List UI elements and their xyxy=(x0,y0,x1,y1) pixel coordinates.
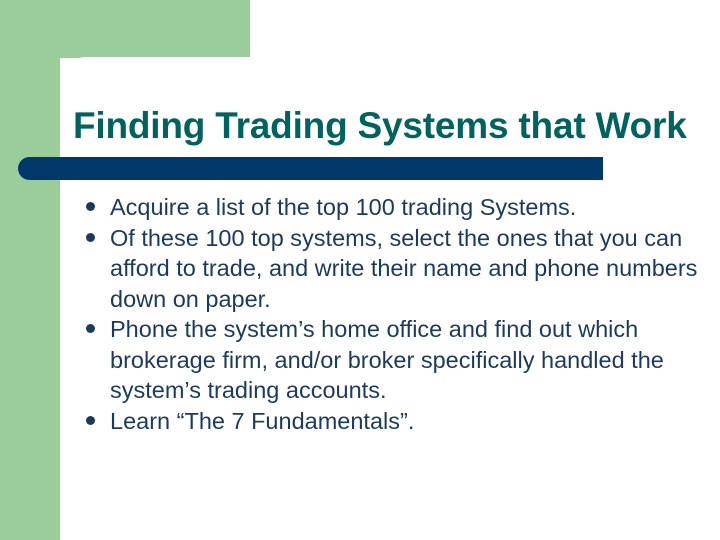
bullet-dot-icon xyxy=(86,324,95,333)
list-item: Of these 100 top systems, select the one… xyxy=(86,223,698,315)
slide-title: Finding Trading Systems that Work xyxy=(73,104,703,148)
list-item-text: Phone the system’s home office and find … xyxy=(110,314,698,406)
list-item-text: Learn “The 7 Fundamentals”. xyxy=(110,406,698,437)
title-accent-bar xyxy=(18,157,603,180)
green-left-strip xyxy=(0,0,60,540)
bullet-dot-icon xyxy=(86,233,95,242)
slide-bullet-list: Acquire a list of the top 100 trading Sy… xyxy=(86,192,698,436)
list-item: Acquire a list of the top 100 trading Sy… xyxy=(86,192,698,223)
list-item: Learn “The 7 Fundamentals”. xyxy=(86,406,698,437)
presentation-slide: Finding Trading Systems that Work Acquir… xyxy=(0,0,720,540)
bullet-dot-icon xyxy=(86,202,95,211)
list-item-text: Of these 100 top systems, select the one… xyxy=(110,223,698,315)
list-item: Phone the system’s home office and find … xyxy=(86,314,698,406)
bullet-dot-icon xyxy=(86,416,95,425)
list-item-text: Acquire a list of the top 100 trading Sy… xyxy=(110,192,698,223)
